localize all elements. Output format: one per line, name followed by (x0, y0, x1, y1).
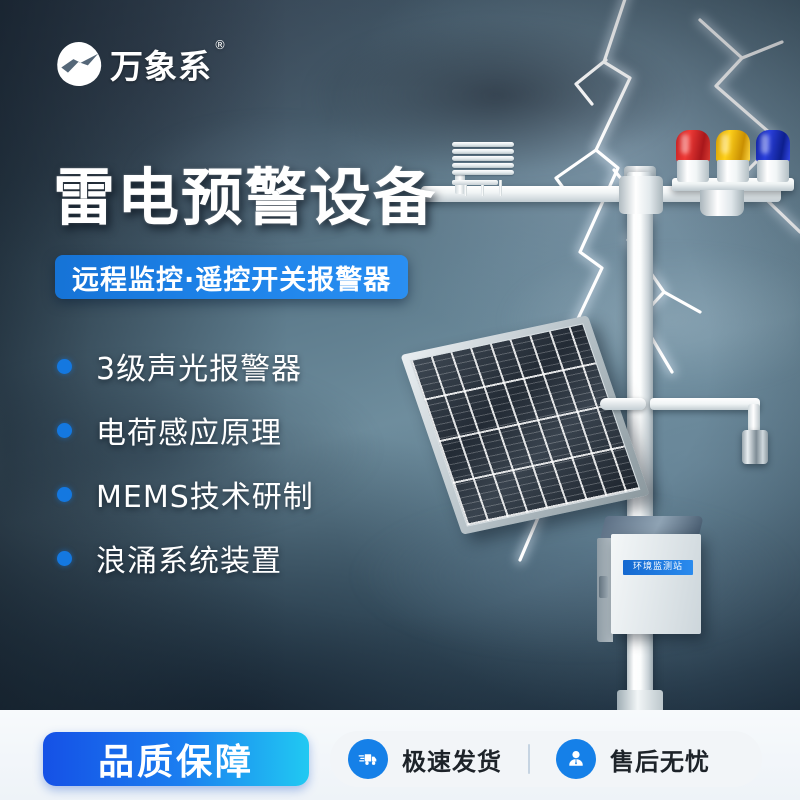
bullet-dot-icon (57, 423, 72, 438)
feature-list: 3级声光报警器 电荷感应原理 MEMS技术研制 浪涌系统装置 (57, 344, 314, 600)
list-item: 电荷感应原理 (57, 408, 314, 452)
quality-guarantee-badge: 品质保障 (43, 732, 309, 786)
cabinet-label: 环境监测站 (623, 560, 693, 575)
radiation-shield-sensor (452, 142, 514, 182)
page-title: 雷电预警设备 (53, 147, 437, 237)
brand-name-text: 万象系 (110, 47, 212, 86)
feature-label: MEMS技术研制 (96, 472, 314, 516)
subtitle-badge: 远程监控·遥控开关报警器 (55, 255, 408, 299)
yellow-alarm-beacon (716, 130, 750, 182)
promo-poster: 环境监测站 万象系 ® 雷电预警设备 远程监控·遥控开关报警器 3级声光报警器 … (0, 0, 800, 800)
trust-item-after-sales[interactable]: 售后无忧 (538, 739, 728, 779)
solar-panel (400, 315, 649, 534)
customer-service-person-icon (556, 739, 596, 779)
solar-panel-frame (400, 315, 649, 534)
brand-logo[interactable]: 万象系 ® (57, 40, 212, 88)
trust-label: 售后无忧 (610, 742, 710, 777)
list-item: 3级声光报警器 (57, 344, 314, 388)
bullet-dot-icon (57, 359, 72, 374)
list-item: MEMS技术研制 (57, 472, 314, 516)
radiation-shield-base (452, 180, 498, 185)
control-cabinet: 环境监测站 (597, 516, 701, 634)
blue-alarm-beacon (756, 130, 790, 182)
cross-arm-joint (619, 176, 663, 214)
solar-panel-mount (600, 398, 646, 410)
feature-label: 电荷感应原理 (96, 408, 282, 452)
cabinet-latch (599, 576, 608, 598)
red-alarm-beacon (676, 130, 710, 182)
trust-divider (528, 744, 530, 774)
solar-panel-cells (410, 323, 641, 526)
bullet-dot-icon (57, 551, 72, 566)
registered-trademark-icon: ® (214, 38, 227, 52)
trust-badge-group: 极速发货 售后无忧 (330, 731, 762, 787)
trust-bar: 品质保障 极速发货 (0, 710, 800, 800)
trust-label: 极速发货 (402, 742, 502, 777)
delivery-truck-icon (348, 739, 388, 779)
feature-label: 3级声光报警器 (96, 344, 302, 388)
feature-label: 浪涌系统装置 (96, 536, 282, 580)
brand-name: 万象系 ® (110, 40, 212, 88)
trust-item-fast-shipping[interactable]: 极速发货 (330, 739, 520, 779)
camera-bracket-arm (650, 398, 760, 410)
beacon-hub (700, 190, 744, 216)
oval-swoosh-logo-icon (57, 42, 101, 86)
camera-sensor-module (742, 430, 768, 464)
cabinet-face (611, 534, 701, 634)
list-item: 浪涌系统装置 (57, 536, 314, 580)
bullet-dot-icon (57, 487, 72, 502)
